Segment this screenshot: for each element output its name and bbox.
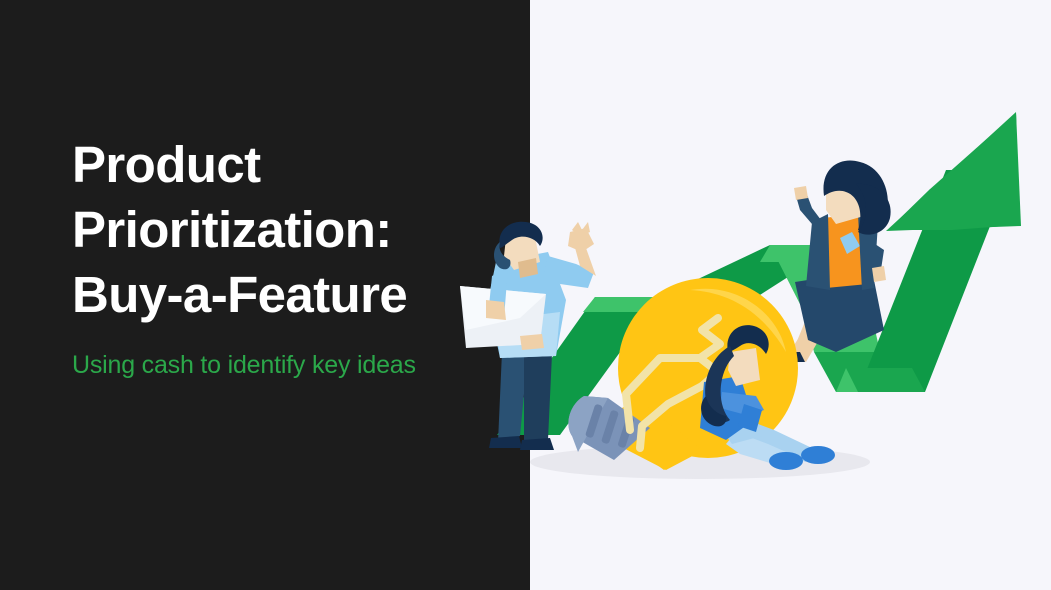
woman-arrow-blazer-right [858, 214, 878, 290]
arrow-peak-block [770, 245, 872, 316]
bulb-base-stripe-2 [601, 410, 619, 445]
woman-arrow-hair-flow [856, 184, 891, 235]
arrow-head-wing [888, 113, 1019, 230]
green-up-arrow [497, 112, 1021, 435]
woman-arrow-hand-raised [794, 186, 808, 200]
man-forearm-waving [574, 244, 596, 276]
arrow-rise-1 [660, 245, 838, 323]
bulb-woman-arm [720, 392, 764, 416]
woman-arrow-top [822, 214, 868, 288]
bulb-woman-knee [716, 398, 762, 444]
woman-arrow-front-leg [787, 302, 841, 362]
bulb-base-shadow [568, 396, 608, 452]
woman-arrow-chest-detail [840, 232, 860, 254]
woman-arrow-hair [823, 160, 887, 232]
arrow-valley [806, 316, 880, 352]
woman-sitting-on-arrow [771, 160, 891, 362]
arrow-shaft-base [846, 368, 925, 392]
page-title-line-3: Buy-a-Feature [72, 262, 502, 327]
man-arm-waving [544, 256, 594, 288]
man-hand-waving [568, 228, 594, 252]
arrow-tail-top-face [583, 297, 660, 312]
headline-block: Product Prioritization: Buy-a-Feature Us… [72, 132, 502, 381]
page-subtitle: Using cash to identify key ideas [72, 349, 502, 381]
bulb-filament-leg-right [640, 386, 702, 448]
arrow-head-solid [886, 112, 1021, 231]
page-title-line-1: Product [72, 132, 502, 197]
bulb-woman-torso [700, 376, 754, 440]
woman-arrow-face [826, 182, 864, 224]
bulb-woman-hair [727, 325, 768, 354]
bulb-woman-hair-wave [701, 396, 726, 426]
bulb-highlight [690, 289, 786, 352]
bulb-base-stripe-1 [585, 404, 603, 439]
bulb-filament-zigzag [700, 318, 720, 386]
page-title-line-2: Prioritization: [72, 197, 502, 262]
arrow-valley-descent [814, 352, 902, 392]
bulb-woman-leg-back [730, 418, 812, 462]
bulb-woman-forearm [738, 404, 762, 432]
bulb-filament-leg-left [626, 358, 700, 430]
arrow-rise-1-top [760, 245, 838, 262]
bulb-woman-leg-front [726, 432, 786, 466]
woman-arrow-skirt [795, 270, 884, 352]
woman-arrow-hand-lower [872, 266, 886, 282]
yellow-lightbulb [568, 278, 798, 470]
bulb-woman-shoe-back [801, 446, 835, 464]
bulb-neck [608, 430, 700, 470]
bulb-neck-upper [600, 398, 700, 470]
arrow-head [929, 113, 1019, 225]
slide-canvas: Product Prioritization: Buy-a-Feature Us… [0, 0, 1051, 590]
woman-sitting-by-bulb [700, 325, 835, 470]
woman-arrow-blazer-left [806, 214, 830, 290]
woman-arrow-arm-lower [866, 238, 884, 276]
bulb-woman-face [728, 348, 760, 386]
arrow-valley-bottom [836, 368, 912, 392]
bulb-base [568, 396, 650, 460]
man-fingers [572, 222, 590, 236]
bulb-glass [618, 278, 798, 458]
floor-shadow-ellipse [530, 445, 870, 479]
woman-arrow-shoe-back [779, 352, 805, 362]
bulb-woman-hair-long [705, 346, 734, 422]
bulb-woman-shoe-front [769, 452, 803, 470]
arrow-peak-descent [812, 245, 872, 354]
woman-arrow-shoe-front [771, 346, 796, 358]
woman-arrow-arm-raised [796, 192, 824, 224]
bulb-base-stripe-3 [617, 416, 634, 449]
woman-arrow-back-leg [790, 300, 826, 358]
arrow-main-shaft [858, 170, 1012, 392]
